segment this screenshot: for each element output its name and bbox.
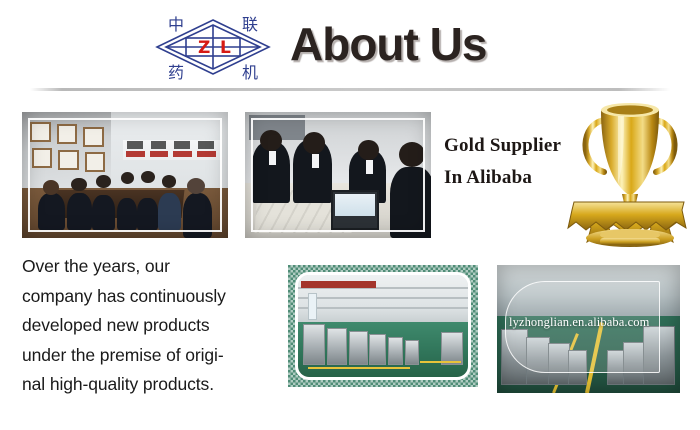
- svg-text:药: 药: [168, 63, 184, 82]
- svg-text:Z: Z: [198, 38, 210, 58]
- page-title: About Us: [290, 16, 486, 72]
- about-line-3: developed new products: [22, 311, 284, 341]
- svg-text:机: 机: [242, 63, 258, 82]
- gold-supplier-line-1: Gold Supplier: [444, 130, 594, 162]
- about-paragraph: Over the years, our company has continuo…: [22, 252, 284, 400]
- svg-text:联: 联: [242, 15, 258, 34]
- header: Z L 中 联 药 机 About Us: [0, 0, 700, 92]
- photo-workshop-right: lyzhonglian.en.alibaba.com: [497, 265, 680, 393]
- about-line-4: under the premise of origi-: [22, 341, 284, 371]
- about-us-banner: Z L 中 联 药 机 About Us: [0, 0, 700, 430]
- svg-text:L: L: [220, 38, 231, 58]
- photo-meeting-room: [22, 112, 228, 238]
- watermark-text: lyzhonglian.en.alibaba.com: [509, 315, 677, 330]
- gold-supplier-line-2: In Alibaba: [444, 162, 594, 194]
- about-line-2: company has continuously: [22, 282, 284, 312]
- gold-supplier-label: Gold Supplier In Alibaba: [444, 130, 594, 194]
- calligraphy-banner: [123, 140, 222, 160]
- photo-workshop-left: [288, 265, 478, 387]
- certificate-frames: [30, 122, 108, 172]
- svg-text:中: 中: [168, 15, 184, 34]
- workshop-left-image: [295, 272, 471, 380]
- about-line-1: Over the years, our: [22, 252, 284, 282]
- photo-blueprint-meeting: [245, 112, 431, 238]
- laptop-icon: [331, 190, 379, 230]
- about-line-5: nal high-quality products.: [22, 370, 284, 400]
- zhonglian-logo-icon: Z L 中 联 药 机: [152, 12, 274, 82]
